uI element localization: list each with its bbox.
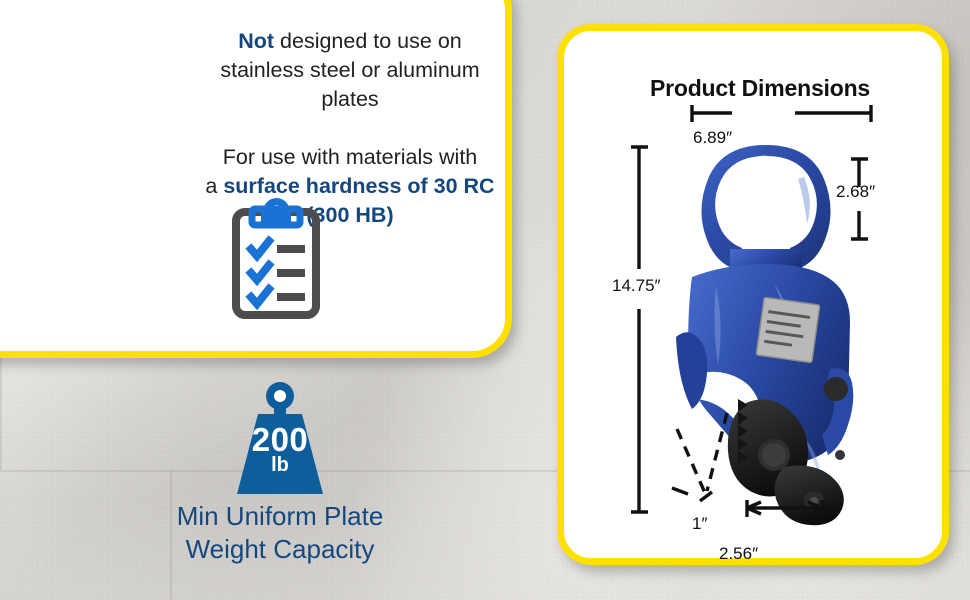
dimension-label-overall-height: 14.75″ — [612, 276, 661, 296]
weight-value: 200 — [210, 423, 350, 456]
stainless-line: stainless steel or aluminum plates — [190, 56, 510, 114]
for-use-line: For use with materials with — [190, 143, 510, 172]
dimension-lines — [564, 31, 956, 572]
product-dimensions-panel: Product Dimensions — [557, 24, 949, 565]
weight-capacity-block: 200 lb Min Uniform Plate Weight Capacity — [120, 382, 440, 566]
weight-caption: Min Uniform Plate Weight Capacity — [120, 500, 440, 566]
not-designed-rest: designed to use on — [274, 29, 462, 53]
dimension-label-width: 6.89″ — [693, 128, 732, 148]
not-emphasis: Not — [238, 29, 274, 53]
hardness-prefix: a — [205, 174, 223, 198]
not-designed-line: Not designed to use on — [190, 27, 510, 56]
dimension-label-jaw-depth: 2.56″ — [719, 544, 758, 564]
weight-unit: lb — [210, 455, 350, 475]
dimension-label-eye-height: 2.68″ — [836, 182, 875, 202]
dimension-label-jaw-opening: 1″ — [692, 514, 707, 534]
weight-caption-line1: Min Uniform Plate — [120, 500, 440, 533]
clipboard-checklist-icon — [231, 198, 321, 320]
weight-icon: 200 lb — [210, 382, 350, 494]
weight-caption-line2: Weight Capacity — [120, 533, 440, 566]
